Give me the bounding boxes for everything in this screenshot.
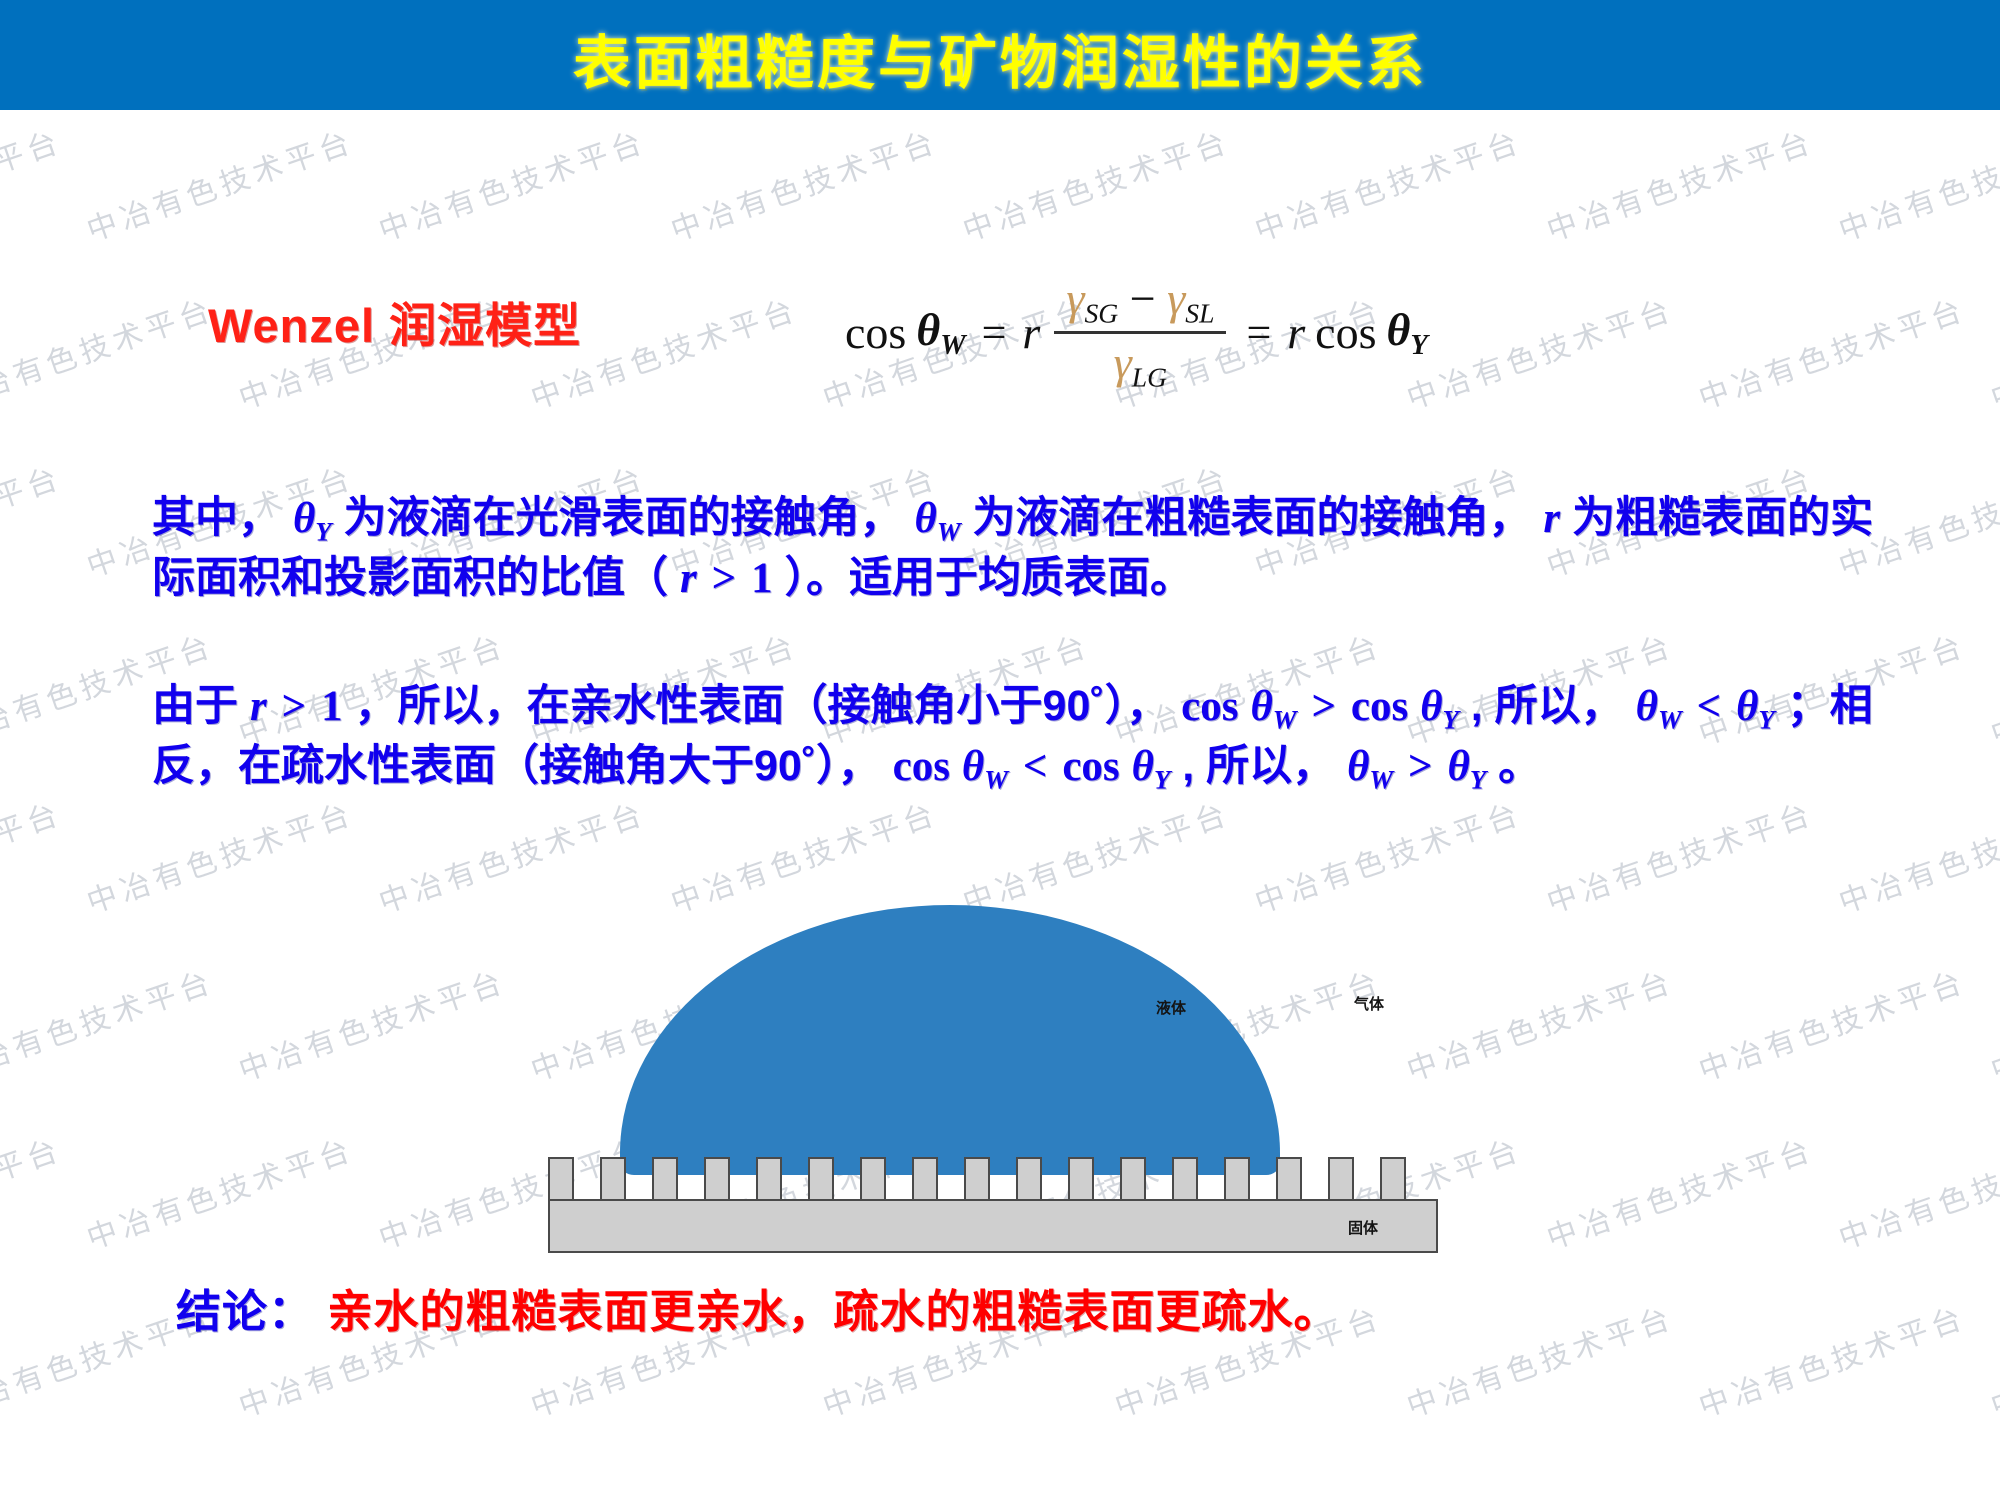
- equation-cos-right: cos: [1315, 306, 1376, 359]
- wenzel-model-label: Wenzel 润湿模型: [208, 287, 581, 356]
- p1-theta-y: θY: [293, 495, 332, 542]
- p2-seg-1: 由于: [152, 682, 238, 730]
- p1-seg-5: ）。适用于均质表面。: [785, 554, 1194, 602]
- gamma-sg-icon: γSG: [1066, 273, 1118, 324]
- figure-label-gas: 气体: [1354, 993, 1384, 1014]
- equation-fraction-denominator: γLG: [1102, 334, 1179, 393]
- p2-cos-a: cos: [1181, 683, 1238, 730]
- surface-tooth: [860, 1157, 886, 1201]
- p2-theta-c: θW: [1636, 683, 1682, 730]
- p2-number-one: 1: [321, 683, 343, 730]
- equation-r-left: r: [1022, 306, 1040, 359]
- surface-tooth: [964, 1157, 990, 1201]
- conclusion-label: 结论：: [176, 1286, 314, 1337]
- page-title: 表面粗糙度与矿物润湿性的关系: [0, 16, 2000, 100]
- figure-label-solid: 固体: [1348, 1217, 1378, 1238]
- p1-number-one: 1: [751, 555, 773, 602]
- p2-theta-f: θY: [1132, 743, 1171, 790]
- equation-fraction-numerator: γSG − γSL: [1054, 272, 1226, 331]
- p2-theta-b: θY: [1420, 683, 1459, 730]
- gamma-lg-icon: γLG: [1114, 337, 1167, 388]
- p2-theta-a: θW: [1250, 683, 1296, 730]
- equation-minus: −: [1130, 273, 1156, 324]
- p2-theta-e: θW: [962, 743, 1008, 790]
- p2-theta-h: θY: [1448, 743, 1487, 790]
- p1-var-r2: r: [680, 555, 697, 602]
- surface-tooth: [1172, 1157, 1198, 1201]
- surface-tooth: [1380, 1157, 1406, 1201]
- surface-tooth: [756, 1157, 782, 1201]
- p2-greater-than-2: >: [1308, 683, 1339, 730]
- equation-r-right: r: [1287, 306, 1305, 359]
- surface-tooth: [1328, 1157, 1354, 1201]
- equation-cos-left: cos: [845, 306, 906, 359]
- liquid-droplet-shape: [620, 905, 1280, 1175]
- surface-tooth: [600, 1157, 626, 1201]
- surface-tooth: [1276, 1157, 1302, 1201]
- p1-greater-than: >: [709, 555, 740, 602]
- p2-less-than-2: <: [1020, 743, 1051, 790]
- p2-greater-than-1: >: [279, 683, 310, 730]
- p2-cos-c: cos: [893, 743, 950, 790]
- equation-fraction: γSG − γSL γLG: [1054, 272, 1226, 394]
- title-banner: 表面粗糙度与矿物润湿性的关系: [0, 0, 2000, 110]
- p1-theta-w: θW: [914, 495, 960, 542]
- p2-cos-b: cos: [1351, 683, 1408, 730]
- conclusion-text: 亲水的粗糙表面更亲水，疏水的粗糙表面更疏水。: [328, 1286, 1340, 1337]
- slide-content: Wenzel 润湿模型 cos θW = r γSG − γSL γLG = r…: [0, 0, 2000, 1500]
- p1-seg-3: 为液滴在粗糙表面的接触角，: [972, 494, 1531, 542]
- wenzel-droplet-diagram: 液体 气体 固体: [548, 905, 1448, 1250]
- p2-theta-g: θW: [1347, 743, 1393, 790]
- equation-equals-1: =: [976, 307, 1013, 358]
- p2-less-than-1: <: [1694, 683, 1725, 730]
- p1-var-r: r: [1543, 495, 1560, 542]
- definition-paragraph: 其中， θY 为液滴在光滑表面的接触角， θW 为液滴在粗糙表面的接触角， r …: [152, 490, 1912, 607]
- surface-tooth: [808, 1157, 834, 1201]
- reasoning-paragraph: 由于 r > 1 ，所以，在亲水性表面（接触角小于90˚）， cos θW > …: [152, 678, 1932, 797]
- p2-greater-than-3: >: [1405, 743, 1436, 790]
- rough-surface-teeth: [548, 1157, 1438, 1201]
- p2-seg-5: , 所以，: [1182, 742, 1335, 790]
- surface-tooth: [1016, 1157, 1042, 1201]
- gamma-sl-icon: γSL: [1167, 273, 1214, 324]
- surface-tooth: [548, 1157, 574, 1201]
- p2-seg-3: , 所以，: [1471, 682, 1624, 730]
- p2-theta-d: θY: [1736, 683, 1775, 730]
- surface-tooth: [1068, 1157, 1094, 1201]
- equation-theta-left: θW: [916, 303, 965, 362]
- surface-tooth: [1120, 1157, 1146, 1201]
- p2-cos-d: cos: [1062, 743, 1119, 790]
- p2-seg-6: 。: [1498, 742, 1541, 790]
- solid-substrate-base: [548, 1199, 1438, 1253]
- p2-var-r: r: [250, 683, 267, 730]
- conclusion-line: 结论： 亲水的粗糙表面更亲水，疏水的粗糙表面更疏水。: [176, 1275, 1340, 1340]
- surface-tooth: [652, 1157, 678, 1201]
- p1-seg-2: 为液滴在光滑表面的接触角，: [344, 494, 903, 542]
- equation-theta-right: θY: [1387, 303, 1428, 362]
- p1-seg-1: 其中，: [152, 494, 281, 542]
- equation-equals-2: =: [1240, 307, 1277, 358]
- surface-tooth: [704, 1157, 730, 1201]
- surface-tooth: [912, 1157, 938, 1201]
- wenzel-equation: cos θW = r γSG − γSL γLG = r cos θY: [845, 272, 1428, 394]
- surface-tooth: [1224, 1157, 1250, 1201]
- p2-seg-2: ，所以，在亲水性表面（接触角小于90˚），: [355, 682, 1170, 730]
- figure-label-liquid: 液体: [1156, 997, 1186, 1018]
